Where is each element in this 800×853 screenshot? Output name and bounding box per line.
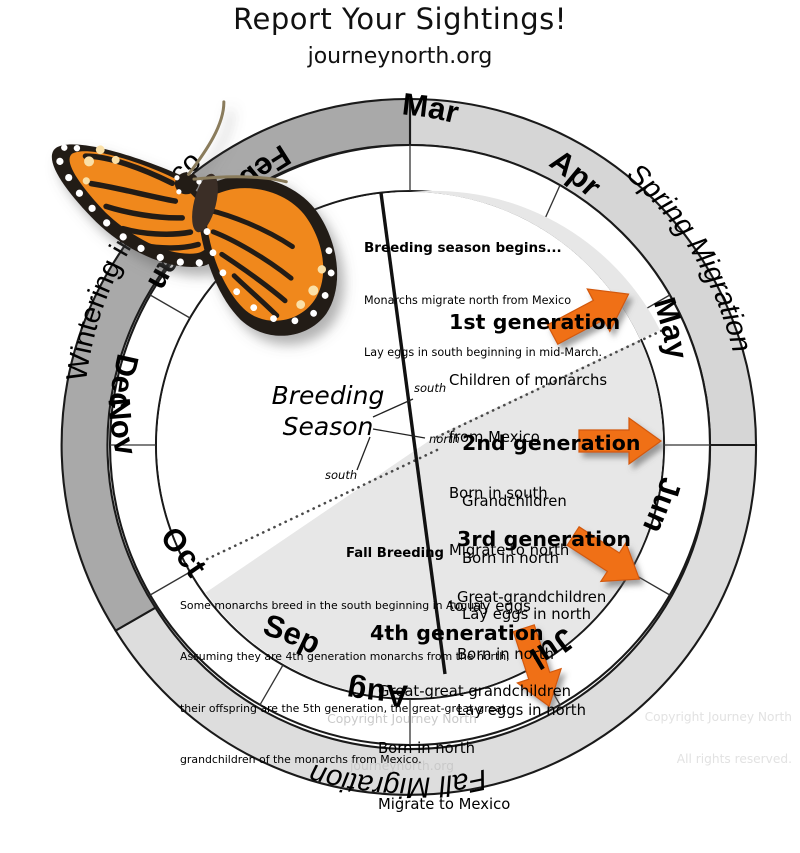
direction-label-south-lower: south — [325, 468, 357, 482]
note-breeding-begins-heading: Breeding season begins... — [364, 240, 602, 256]
note-fall-breeding-heading: Fall Breeding — [180, 546, 610, 561]
corner-watermark-line-1: Copyright Journey North — [552, 710, 792, 724]
direction-label-north: north — [429, 432, 460, 446]
note-fall-breeding-line-2: Assuming they are 4th generation monarch… — [180, 650, 610, 663]
inner-watermark-line-1: Copyright Journey North — [282, 711, 522, 727]
center-label-breeding-season: Breeding Season — [248, 380, 408, 442]
generation-1-line-1: Children of monarchs — [449, 372, 620, 391]
inner-watermark: Copyright Journey North journeynorth.org — [282, 680, 522, 804]
infographic-canvas: Report Your Sightings! journeynorth.org — [0, 0, 800, 800]
inner-watermark-line-2: journeynorth.org — [282, 758, 522, 774]
generation-2-heading: 2nd generation — [462, 431, 641, 455]
corner-watermark: Copyright Journey North All rights reser… — [552, 682, 792, 794]
generation-1-heading: 1st generation — [449, 310, 620, 334]
direction-label-south-upper: south — [414, 381, 446, 395]
note-fall-breeding-line-1: Some monarchs breed in the south beginni… — [180, 599, 610, 612]
corner-watermark-line-2: All rights reserved. — [552, 752, 792, 766]
